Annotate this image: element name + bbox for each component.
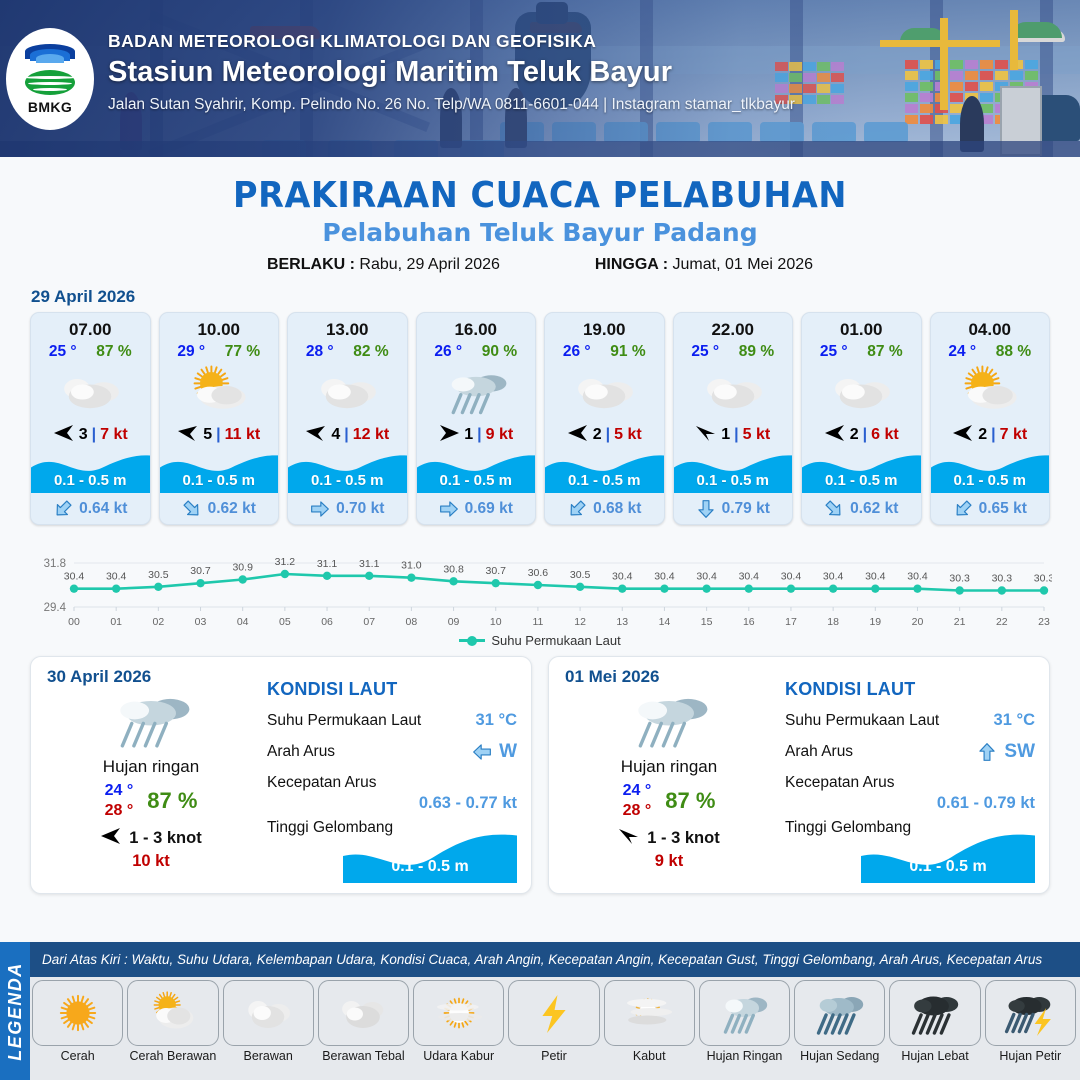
arrow-eastnorth-icon (695, 424, 717, 446)
page-subtitle: Pelabuhan Teluk Bayur Padang (0, 218, 1080, 247)
hourly-card[interactable]: 01.00 25 ° 87 % 2 | 6 kt 0.1 - 0.5 m 0.6… (801, 312, 922, 525)
arrow-southeast-icon (824, 499, 844, 519)
card-wind-divider: | (863, 426, 867, 444)
card-wind-divider: | (344, 426, 348, 444)
svg-text:30.4: 30.4 (907, 571, 928, 583)
current-direction-value: SW (1004, 741, 1035, 763)
card-time: 01.00 (802, 313, 921, 340)
arrow-west-icon (567, 424, 589, 446)
svg-text:18: 18 (827, 616, 839, 628)
arrow-eastnorth-icon (618, 827, 640, 849)
svg-text:07: 07 (363, 616, 375, 628)
card-wave: 0.1 - 0.5 m (674, 449, 793, 493)
current-speed-row: Kecepatan Arus 0.61 - 0.79 kt (785, 774, 1035, 813)
current-direction-label: Arah Arus (785, 743, 853, 761)
svg-text:01: 01 (110, 616, 122, 628)
wave-height-row: Tinggi Gelombang 0.1 - 0.5 m (785, 819, 1035, 881)
card-temp-hum: 24 ° 88 % (931, 340, 1050, 361)
logo-text: BMKG (28, 99, 72, 115)
card-gust: 7 kt (1000, 426, 1028, 444)
card-wave: 0.1 - 0.5 m (802, 449, 921, 493)
card-gust: 6 kt (871, 426, 899, 444)
valid-until-label: HINGGA : (595, 256, 668, 273)
card-temp-hum: 25 ° 87 % (31, 340, 150, 361)
current-direction-row: Arah Arus W (267, 741, 517, 763)
arrow-west-icon (100, 827, 122, 849)
daily-temp-range: 24 ° 28 ° (623, 781, 652, 821)
legend-item: Kabut (604, 980, 695, 1063)
sst-label: Suhu Permukaan Laut (267, 712, 421, 730)
card-wind-divider: | (477, 426, 481, 444)
daily-humidity: 87 % (147, 788, 197, 814)
current-direction-value-group: SW (977, 741, 1035, 763)
arrow-west-icon (824, 424, 846, 446)
svg-text:30.3: 30.3 (1034, 573, 1052, 585)
card-gust: 12 kt (353, 426, 389, 444)
daily-left: 01 Mei 2026 Hujan ringan 24 ° 28 ° 87 % … (565, 667, 773, 871)
card-temperature: 24 ° (948, 343, 976, 361)
card-wind-divider: | (606, 426, 610, 444)
logo-arcs-icon (22, 44, 78, 68)
arrow-southwest-icon (53, 499, 73, 519)
card-wind-divider: | (991, 426, 995, 444)
card-wind: 3 | 7 kt (31, 421, 150, 449)
card-wind-speed: 2 (978, 426, 987, 444)
card-weather-berawan-icon (545, 364, 664, 420)
card-current-speed: 0.62 kt (850, 500, 898, 518)
sst-row: Suhu Permukaan Laut 31 °C (785, 711, 1035, 730)
daily-date: 30 April 2026 (47, 667, 255, 687)
wave-height-row: Tinggi Gelombang 0.1 - 0.5 m (267, 819, 517, 881)
card-current: 0.69 kt (417, 493, 536, 524)
valid-from: BERLAKU : Rabu, 29 April 2026 (267, 256, 500, 274)
svg-text:30.4: 30.4 (64, 571, 85, 583)
sst-value: 31 °C (994, 711, 1035, 730)
daily-temps: 24 ° 28 ° 87 % (565, 781, 773, 821)
card-gust: 5 kt (614, 426, 642, 444)
card-wave: 0.1 - 0.5 m (31, 449, 150, 493)
legend-item-label: Berawan (223, 1049, 314, 1063)
legend-icon-hujan-sedang-icon (794, 980, 885, 1046)
svg-text:09: 09 (448, 616, 460, 628)
card-humidity: 90 % (482, 343, 517, 361)
sst-label: Suhu Permukaan Laut (785, 712, 939, 730)
daily-humidity: 87 % (665, 788, 715, 814)
svg-text:30.4: 30.4 (739, 571, 760, 583)
svg-text:03: 03 (195, 616, 207, 628)
legend-icon-cerah-icon (32, 980, 123, 1046)
card-current-speed: 0.62 kt (208, 500, 256, 518)
daily-condition: Hujan ringan (565, 757, 773, 777)
current-direction-label: Arah Arus (267, 743, 335, 761)
card-current: 0.64 kt (31, 493, 150, 524)
card-temperature: 25 ° (49, 343, 77, 361)
legend-icon-hujan-lebat-icon (889, 980, 980, 1046)
card-wave-height: 0.1 - 0.5 m (160, 472, 279, 489)
card-current-speed: 0.68 kt (593, 500, 641, 518)
arrow-east-icon (439, 499, 459, 519)
card-temp-hum: 26 ° 90 % (417, 340, 536, 361)
card-wind-speed: 3 (79, 426, 88, 444)
svg-text:30.3: 30.3 (949, 573, 970, 585)
current-direction-value: W (499, 741, 517, 763)
valid-until: HINGGA : Jumat, 01 Mei 2026 (595, 256, 813, 274)
daily-temp-max: 28 ° (623, 802, 652, 819)
card-weather-berawan-icon (31, 364, 150, 420)
card-wave-height: 0.1 - 0.5 m (288, 472, 407, 489)
card-wind-speed: 5 (203, 426, 212, 444)
svg-text:22: 22 (996, 616, 1008, 628)
legend-note: Dari Atas Kiri : Waktu, Suhu Udara, Kele… (30, 942, 1080, 977)
card-temperature: 29 ° (177, 343, 205, 361)
card-wind-divider: | (92, 426, 96, 444)
card-wind-speed: 2 (850, 426, 859, 444)
hourly-card[interactable]: 10.00 29 ° 77 % 5 | 11 kt 0.1 - 0.5 m 0.… (159, 312, 280, 525)
card-time: 16.00 (417, 313, 536, 340)
card-wave: 0.1 - 0.5 m (417, 449, 536, 493)
card-current: 0.65 kt (931, 493, 1050, 524)
card-wind: 2 | 7 kt (931, 421, 1050, 449)
valid-from-label: BERLAKU : (267, 256, 355, 273)
current-speed-value: 0.61 - 0.79 kt (785, 794, 1035, 813)
daily-weather-hujan-ringan-icon (565, 685, 773, 755)
svg-text:08: 08 (406, 616, 418, 628)
legend-item: Udara Kabur (413, 980, 504, 1063)
daily-temps: 24 ° 28 ° 87 % (47, 781, 255, 821)
card-temp-hum: 25 ° 87 % (802, 340, 921, 361)
svg-text:30.4: 30.4 (612, 571, 633, 583)
card-wind: 1 | 5 kt (674, 421, 793, 449)
card-wind-speed: 1 (721, 426, 730, 444)
hourly-date-label: 29 April 2026 (31, 287, 1080, 307)
daily-wind: 1 - 3 knot (47, 827, 255, 849)
card-wind: 2 | 5 kt (545, 421, 664, 449)
page-header: BMKG BADAN METEOROLOGI KLIMATOLOGI DAN G… (0, 0, 1080, 157)
hourly-card[interactable]: 07.00 25 ° 87 % 3 | 7 kt 0.1 - 0.5 m 0.6… (30, 312, 151, 525)
card-wind: 4 | 12 kt (288, 421, 407, 449)
card-humidity: 87 % (867, 343, 902, 361)
contact-line: Jalan Sutan Syahrir, Komp. Pelindo No. 2… (108, 96, 795, 114)
legend-items: Cerah Cerah Berawan Berawan Berawan Teba… (32, 980, 1076, 1063)
daily-wind-range: 1 - 3 knot (647, 829, 719, 848)
card-wave-height: 0.1 - 0.5 m (417, 472, 536, 489)
arrow-south-icon (696, 499, 716, 519)
card-temp-hum: 29 ° 77 % (160, 340, 279, 361)
sst-row: Suhu Permukaan Laut 31 °C (267, 711, 517, 730)
card-current: 0.70 kt (288, 493, 407, 524)
svg-text:04: 04 (237, 616, 249, 628)
card-time: 13.00 (288, 313, 407, 340)
daily-wind-range: 1 - 3 knot (129, 829, 201, 848)
svg-text:31.1: 31.1 (359, 558, 380, 570)
svg-text:30.4: 30.4 (865, 571, 886, 583)
card-weather-cerah-berawan-icon (931, 364, 1050, 420)
card-wave: 0.1 - 0.5 m (160, 449, 279, 493)
svg-text:11: 11 (532, 616, 543, 628)
svg-text:16: 16 (743, 616, 755, 628)
card-wind: 2 | 6 kt (802, 421, 921, 449)
card-humidity: 91 % (610, 343, 645, 361)
arrow-west-icon (53, 424, 75, 446)
svg-text:21: 21 (954, 616, 966, 628)
card-wave: 0.1 - 0.5 m (931, 449, 1050, 493)
card-time: 10.00 (160, 313, 279, 340)
legend-item: Hujan Lebat (889, 980, 980, 1063)
legend-item-label: Udara Kabur (413, 1049, 504, 1063)
card-weather-berawan-icon (288, 364, 407, 420)
card-wave-height: 0.1 - 0.5 m (31, 472, 150, 489)
hourly-card[interactable]: 16.00 26 ° 90 % 1 | 9 kt 0.1 - 0.5 m 0.6… (416, 312, 537, 525)
arrow-west-icon (952, 424, 974, 446)
svg-text:10: 10 (490, 616, 502, 628)
legend-item: Hujan Ringan (699, 980, 790, 1063)
svg-text:30.4: 30.4 (696, 571, 717, 583)
wave-height-graphic: 0.1 - 0.5 m (343, 829, 517, 883)
card-wave-height: 0.1 - 0.5 m (545, 472, 664, 489)
legend-icon-hujan-petir-icon (985, 980, 1076, 1046)
card-time: 22.00 (674, 313, 793, 340)
card-temp-hum: 28 ° 82 % (288, 340, 407, 361)
daily-condition: Hujan ringan (47, 757, 255, 777)
svg-text:29.4: 29.4 (44, 602, 67, 614)
svg-text:31.0: 31.0 (401, 560, 422, 572)
legend-side-label: LEGENDA (5, 962, 26, 1061)
card-humidity: 88 % (996, 343, 1031, 361)
card-current-speed: 0.79 kt (722, 500, 770, 518)
card-temp-hum: 25 ° 89 % (674, 340, 793, 361)
svg-text:30.6: 30.6 (528, 567, 549, 579)
arrow-westsouth-icon (177, 424, 199, 446)
svg-text:20: 20 (912, 616, 924, 628)
current-speed-label: Kecepatan Arus (785, 774, 1035, 792)
card-temperature: 26 ° (563, 343, 591, 361)
legend-item: Petir (508, 980, 599, 1063)
svg-text:31.1: 31.1 (317, 558, 338, 570)
arrow-east-icon (310, 499, 330, 519)
arrow-left-icon (472, 742, 492, 762)
card-gust: 9 kt (486, 426, 514, 444)
daily-sea-conditions: KONDISI LAUT Suhu Permukaan Laut 31 °C A… (785, 679, 1035, 881)
arrow-southeast-icon (182, 499, 202, 519)
svg-text:30.4: 30.4 (106, 571, 127, 583)
daily-temp-max: 28 ° (105, 802, 134, 819)
card-time: 04.00 (931, 313, 1050, 340)
legend-item-label: Kabut (604, 1049, 695, 1063)
card-wind: 1 | 9 kt (417, 421, 536, 449)
card-humidity: 89 % (739, 343, 774, 361)
card-current: 0.62 kt (160, 493, 279, 524)
card-gust: 7 kt (100, 426, 128, 444)
svg-text:00: 00 (68, 616, 80, 628)
daily-gust: 10 kt (47, 852, 255, 871)
card-temp-hum: 26 ° 91 % (545, 340, 664, 361)
card-temperature: 25 ° (820, 343, 848, 361)
current-direction-value-group: W (472, 741, 517, 763)
card-current: 0.68 kt (545, 493, 664, 524)
svg-text:23: 23 (1038, 616, 1050, 628)
legend-item: Cerah (32, 980, 123, 1063)
sst-value: 31 °C (476, 711, 517, 730)
legend-item: Cerah Berawan (127, 980, 218, 1063)
title-block: PRAKIRAAN CUACA PELABUHAN Pelabuhan Telu… (0, 175, 1080, 274)
svg-text:30.3: 30.3 (992, 573, 1013, 585)
card-wave-height: 0.1 - 0.5 m (674, 472, 793, 489)
legend-item: Berawan Tebal (318, 980, 409, 1063)
daily-weather-hujan-ringan-icon (47, 685, 255, 755)
legend-item-label: Cerah (32, 1049, 123, 1063)
svg-text:13: 13 (616, 616, 628, 628)
legend-icon-berawan-icon (223, 980, 314, 1046)
card-current-speed: 0.69 kt (465, 500, 513, 518)
hourly-card[interactable]: 22.00 25 ° 89 % 1 | 5 kt 0.1 - 0.5 m 0.7… (673, 312, 794, 525)
arrow-westsouth-icon (305, 424, 327, 446)
card-time: 07.00 (31, 313, 150, 340)
legend-icon-berawan-tebal-icon (318, 980, 409, 1046)
card-wave-height: 0.1 - 0.5 m (931, 472, 1050, 489)
arrow-east-icon (438, 424, 460, 446)
svg-text:30.5: 30.5 (148, 569, 169, 581)
card-temperature: 26 ° (434, 343, 462, 361)
wave-height-graphic: 0.1 - 0.5 m (861, 829, 1035, 883)
daily-forecast-panel[interactable]: 01 Mei 2026 Hujan ringan 24 ° 28 ° 87 % … (548, 656, 1050, 894)
hourly-card[interactable]: 04.00 24 ° 88 % 2 | 7 kt 0.1 - 0.5 m 0.6… (930, 312, 1051, 525)
card-time: 19.00 (545, 313, 664, 340)
daily-date: 01 Mei 2026 (565, 667, 773, 687)
card-weather-berawan-icon (802, 364, 921, 420)
card-wind-speed: 2 (593, 426, 602, 444)
svg-text:31.8: 31.8 (44, 558, 66, 570)
sst-chart: 31.8 29.4 30.430.430.530.730.931.231.131… (28, 537, 1052, 629)
legend-label: Suhu Permukaan Laut (491, 633, 620, 648)
daily-panels: 30 April 2026 Hujan ringan 24 ° 28 ° 87 … (0, 648, 1080, 894)
arrow-southwest-icon (953, 499, 973, 519)
card-gust: 11 kt (225, 426, 261, 444)
svg-text:05: 05 (279, 616, 291, 628)
svg-text:06: 06 (321, 616, 333, 628)
legend-item-label: Cerah Berawan (127, 1049, 218, 1063)
legend-item-label: Hujan Petir (985, 1049, 1076, 1063)
svg-text:30.7: 30.7 (190, 565, 211, 577)
arrow-up-icon (977, 742, 997, 762)
card-weather-berawan-icon (674, 364, 793, 420)
card-humidity: 77 % (225, 343, 260, 361)
card-current-speed: 0.64 kt (79, 500, 127, 518)
card-wind: 5 | 11 kt (160, 421, 279, 449)
svg-text:30.4: 30.4 (823, 571, 844, 583)
daily-wind: 1 - 3 knot (565, 827, 773, 849)
svg-text:30.4: 30.4 (654, 571, 675, 583)
card-weather-cerah-berawan-icon (160, 364, 279, 420)
sea-conditions-title: KONDISI LAUT (267, 679, 517, 700)
svg-text:12: 12 (574, 616, 586, 628)
legend-item-label: Hujan Lebat (889, 1049, 980, 1063)
card-humidity: 87 % (96, 343, 131, 361)
legend-item-label: Petir (508, 1049, 599, 1063)
card-wave: 0.1 - 0.5 m (545, 449, 664, 493)
current-speed-row: Kecepatan Arus 0.63 - 0.77 kt (267, 774, 517, 813)
card-humidity: 82 % (353, 343, 388, 361)
svg-text:19: 19 (869, 616, 881, 628)
page-title: PRAKIRAAN CUACA PELABUHAN (38, 175, 1042, 216)
station-name: Stasiun Meteorologi Maritim Teluk Bayur (108, 56, 795, 89)
daily-temp-min: 24 ° (623, 782, 652, 799)
bmkg-logo: BMKG (6, 28, 94, 130)
wave-height-value: 0.1 - 0.5 m (343, 858, 517, 876)
svg-text:17: 17 (785, 616, 797, 628)
svg-text:30.9: 30.9 (232, 562, 253, 574)
svg-text:14: 14 (659, 616, 671, 628)
legend-icon-hujan-ringan-icon (699, 980, 790, 1046)
svg-text:15: 15 (701, 616, 713, 628)
legend-icon-petir-icon (508, 980, 599, 1046)
legend-icon-udara-kabur-icon (413, 980, 504, 1046)
svg-text:02: 02 (153, 616, 165, 628)
hourly-forecast-row: 07.00 25 ° 87 % 3 | 7 kt 0.1 - 0.5 m 0.6… (0, 312, 1080, 525)
arrow-southwest-icon (567, 499, 587, 519)
validity-line: BERLAKU : Rabu, 29 April 2026 HINGGA : J… (0, 256, 1080, 274)
legend-icon-cerah-berawan-icon (127, 980, 218, 1046)
daily-temp-min: 24 ° (105, 782, 134, 799)
card-temperature: 28 ° (306, 343, 334, 361)
legend-item-label: Hujan Ringan (699, 1049, 790, 1063)
hourly-card[interactable]: 19.00 26 ° 91 % 2 | 5 kt 0.1 - 0.5 m 0.6… (544, 312, 665, 525)
card-current-speed: 0.65 kt (979, 500, 1027, 518)
card-wind-speed: 1 (464, 426, 473, 444)
card-wind-speed: 4 (331, 426, 340, 444)
legend-icon-kabut-icon (604, 980, 695, 1046)
sea-conditions-title: KONDISI LAUT (785, 679, 1035, 700)
org-name: BADAN METEOROLOGI KLIMATOLOGI DAN GEOFIS… (108, 31, 795, 52)
wave-height-value: 0.1 - 0.5 m (861, 858, 1035, 876)
card-wave-height: 0.1 - 0.5 m (802, 472, 921, 489)
current-speed-value: 0.63 - 0.77 kt (267, 794, 517, 813)
card-wind-divider: | (216, 426, 220, 444)
legend-marker-icon (459, 639, 485, 642)
legend-strip: LEGENDA Dari Atas Kiri : Waktu, Suhu Uda… (0, 942, 1080, 1080)
svg-text:31.2: 31.2 (275, 556, 296, 568)
card-wave: 0.1 - 0.5 m (288, 449, 407, 493)
current-direction-row: Arah Arus SW (785, 741, 1035, 763)
valid-until-value: Jumat, 01 Mei 2026 (673, 256, 814, 273)
chart-legend: Suhu Permukaan Laut (0, 633, 1080, 648)
daily-forecast-panel[interactable]: 30 April 2026 Hujan ringan 24 ° 28 ° 87 … (30, 656, 532, 894)
legend-item: Hujan Petir (985, 980, 1076, 1063)
svg-text:30.8: 30.8 (443, 563, 464, 575)
svg-text:30.7: 30.7 (486, 565, 507, 577)
card-current: 0.79 kt (674, 493, 793, 524)
legend-item: Berawan (223, 980, 314, 1063)
legend-side-tab: LEGENDA (0, 942, 30, 1080)
daily-sea-conditions: KONDISI LAUT Suhu Permukaan Laut 31 °C A… (267, 679, 517, 881)
logo-waves-icon (24, 70, 76, 98)
daily-left: 30 April 2026 Hujan ringan 24 ° 28 ° 87 … (47, 667, 255, 871)
card-current-speed: 0.70 kt (336, 500, 384, 518)
daily-gust: 9 kt (565, 852, 773, 871)
daily-temp-range: 24 ° 28 ° (105, 781, 134, 821)
hourly-card[interactable]: 13.00 28 ° 82 % 4 | 12 kt 0.1 - 0.5 m 0.… (287, 312, 408, 525)
sst-line-chart-svg: 31.8 29.4 30.430.430.530.730.931.231.131… (28, 537, 1052, 629)
valid-from-value: Rabu, 29 April 2026 (359, 256, 500, 273)
header-text-block: BADAN METEOROLOGI KLIMATOLOGI DAN GEOFIS… (108, 31, 795, 114)
card-gust: 5 kt (743, 426, 771, 444)
legend-item-label: Hujan Sedang (794, 1049, 885, 1063)
current-speed-label: Kecepatan Arus (267, 774, 517, 792)
svg-text:30.5: 30.5 (570, 569, 591, 581)
card-weather-hujan-ringan-icon (417, 364, 536, 420)
legend-item-label: Berawan Tebal (318, 1049, 409, 1063)
card-current: 0.62 kt (802, 493, 921, 524)
card-temperature: 25 ° (691, 343, 719, 361)
